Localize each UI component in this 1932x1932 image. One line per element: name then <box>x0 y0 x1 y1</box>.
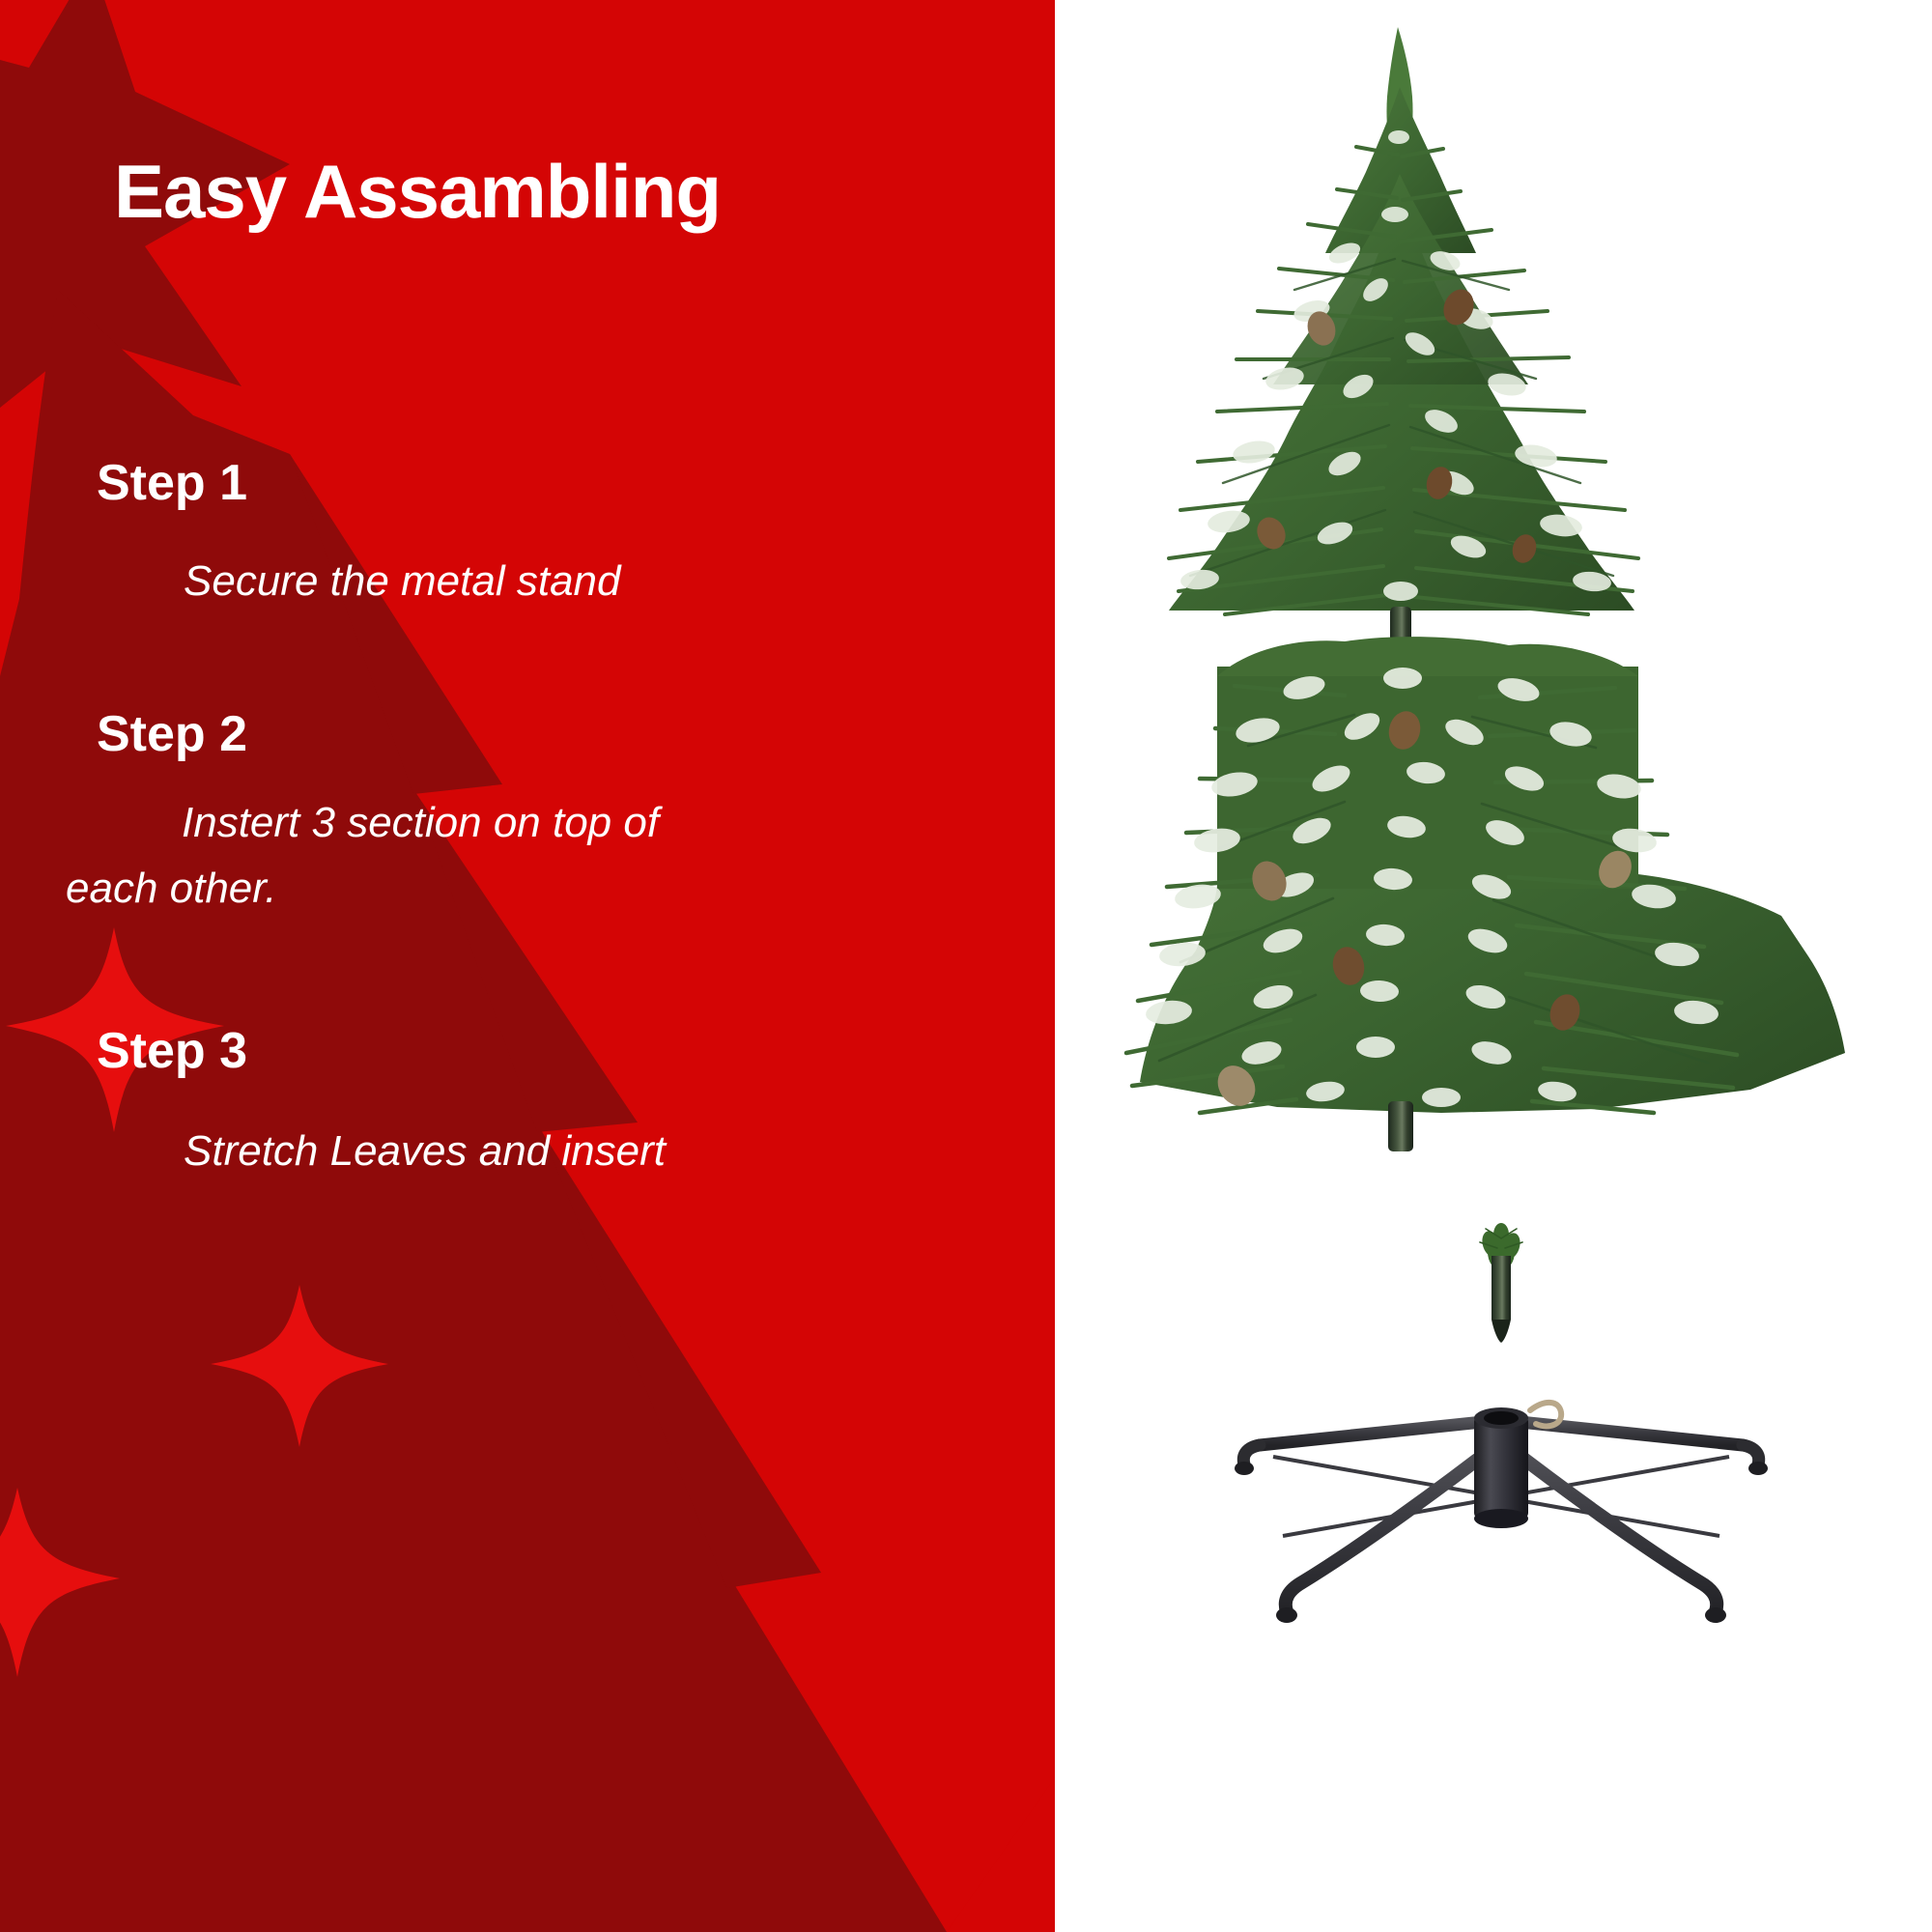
page-title: Easy Assambling <box>114 153 721 232</box>
step-1-heading: Step 1 <box>97 454 247 512</box>
step-1-text: Secure the metal stand <box>184 549 1053 614</box>
promotional-graphic: Easy Assambling Step 1 Secure the metal … <box>0 0 1932 1932</box>
instructions-panel: Easy Assambling Step 1 Secure the metal … <box>0 0 1055 1932</box>
tree-assembly-diagram <box>1055 0 1932 1932</box>
tree-center-pole <box>1479 1223 1523 1343</box>
tree-middle-pole-stub <box>1388 1101 1413 1151</box>
step-2-text: Instert 3 section on top of each other. <box>66 790 742 922</box>
metal-tree-stand <box>1235 1403 1768 1623</box>
christmas-tree-decoration-icon <box>0 0 1055 1932</box>
step-3-text: Stretch Leaves and insert <box>184 1119 1053 1184</box>
tree-middle-section <box>1140 637 1845 1113</box>
step-2-heading: Step 2 <box>97 705 247 763</box>
step-3-heading: Step 3 <box>97 1022 247 1080</box>
product-photo-column <box>1055 0 1932 1932</box>
